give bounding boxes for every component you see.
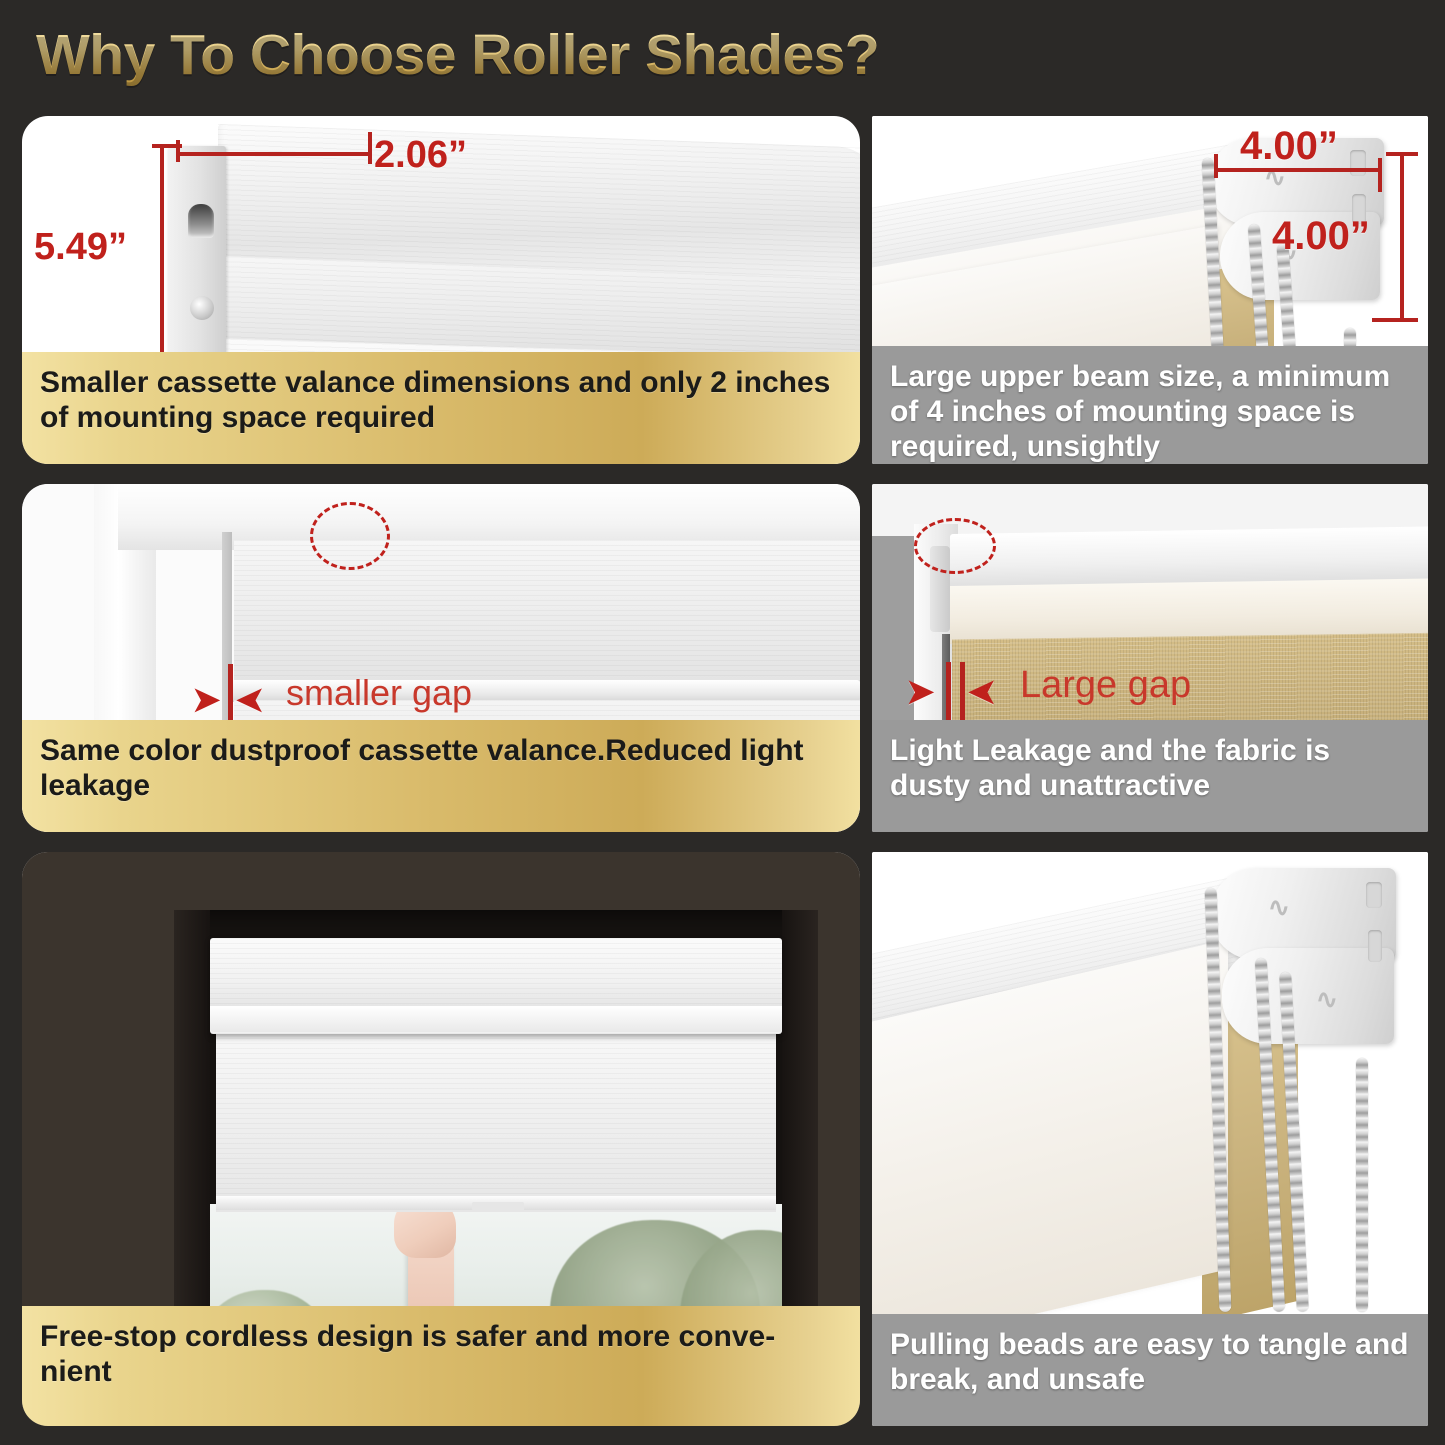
valance-lip — [210, 1006, 782, 1032]
bracket-screw — [190, 296, 214, 320]
panel-caption: Smaller cassette valance dimensions and … — [22, 352, 860, 464]
width-dim-tick-r — [368, 132, 372, 164]
bead-chain-4 — [1356, 1058, 1368, 1312]
beam-height-tick-b — [1372, 318, 1418, 322]
bracket-bottom — [1222, 948, 1394, 1044]
highlight-circle — [914, 518, 996, 574]
scroll-symbol-upper: ∿ — [1268, 892, 1290, 923]
panel-grid: 2.06” 5.49” Smaller cassette valance dim… — [0, 108, 1445, 1445]
infographic-root: Why To Choose Roller Shades? 2.06” — [0, 0, 1445, 1445]
bracket-slot — [188, 204, 214, 238]
beam-width-tick-r — [1378, 158, 1382, 192]
gap-label: Large gap — [1020, 664, 1191, 707]
scroll-symbol-lower: ∿ — [1316, 984, 1338, 1015]
gap-arrow-left: ➤ — [192, 680, 221, 720]
bracket-slot-upper — [1366, 882, 1382, 908]
header-bar: Why To Choose Roller Shades? — [0, 0, 1445, 110]
page-title: Why To Choose Roller Shades? — [36, 22, 879, 88]
panel-caption: Pulling beads are easy to tangle and bre… — [872, 1314, 1428, 1426]
panel-pulling-beads: ∿ ∿ Pulling beads are easy to tangle and… — [872, 852, 1428, 1426]
gap-label: smaller gap — [286, 672, 472, 714]
gap-line-1 — [946, 662, 951, 722]
beam-height-dim-line — [1400, 154, 1404, 322]
pull-tab — [472, 1202, 524, 1211]
panel-large-beam: ∿ ∿ 4.00” 4.00” Large upper beam size, a… — [872, 116, 1428, 464]
highlight-circle — [310, 502, 390, 570]
panel-caption: Same color dustproof cassette valance.Re… — [22, 720, 860, 832]
gap-line-2 — [960, 662, 965, 722]
panel-caption: Light Leakage and the fabric is dusty an… — [872, 720, 1428, 832]
bracket-slot-lower — [1368, 930, 1382, 962]
beam-width-label: 4.00” — [1240, 124, 1338, 169]
height-dimension-label: 5.49” — [34, 226, 127, 269]
panel-cassette-dimensions: 2.06” 5.49” Smaller cassette valance dim… — [22, 116, 860, 464]
gap-arrow-left: ➤ — [906, 672, 935, 712]
bracket-slot-upper — [1350, 150, 1366, 176]
panel-caption: Free-stop cordless design is safer and m… — [22, 1306, 860, 1426]
width-dimension-label: 2.06” — [374, 134, 467, 177]
beam-height-tick-t — [1386, 152, 1418, 156]
panel-caption: Large upper beam size, a minimum of 4 in… — [872, 346, 1428, 464]
gap-arrow-right: ➤ — [968, 672, 997, 712]
fabric-texture — [216, 1028, 776, 1212]
roller-shade-fabric — [216, 1028, 776, 1212]
height-dim-tick-t — [152, 144, 182, 148]
gap-arrow-right: ➤ — [236, 680, 265, 720]
panel-smaller-gap: ➤ ➤ smaller gap Same color dustproof cas… — [22, 484, 860, 832]
height-dim-line — [160, 146, 164, 360]
beam-height-label: 4.00” — [1272, 214, 1370, 259]
width-dim-line — [178, 152, 372, 156]
mounting-bracket — [168, 146, 226, 361]
panel-light-leakage: ➤ ➤ Large gap Light Leakage and the fabr… — [872, 484, 1428, 832]
panel-cordless: Free-stop cordless design is safer and m… — [22, 852, 860, 1426]
beam-width-tick-l — [1214, 154, 1218, 178]
